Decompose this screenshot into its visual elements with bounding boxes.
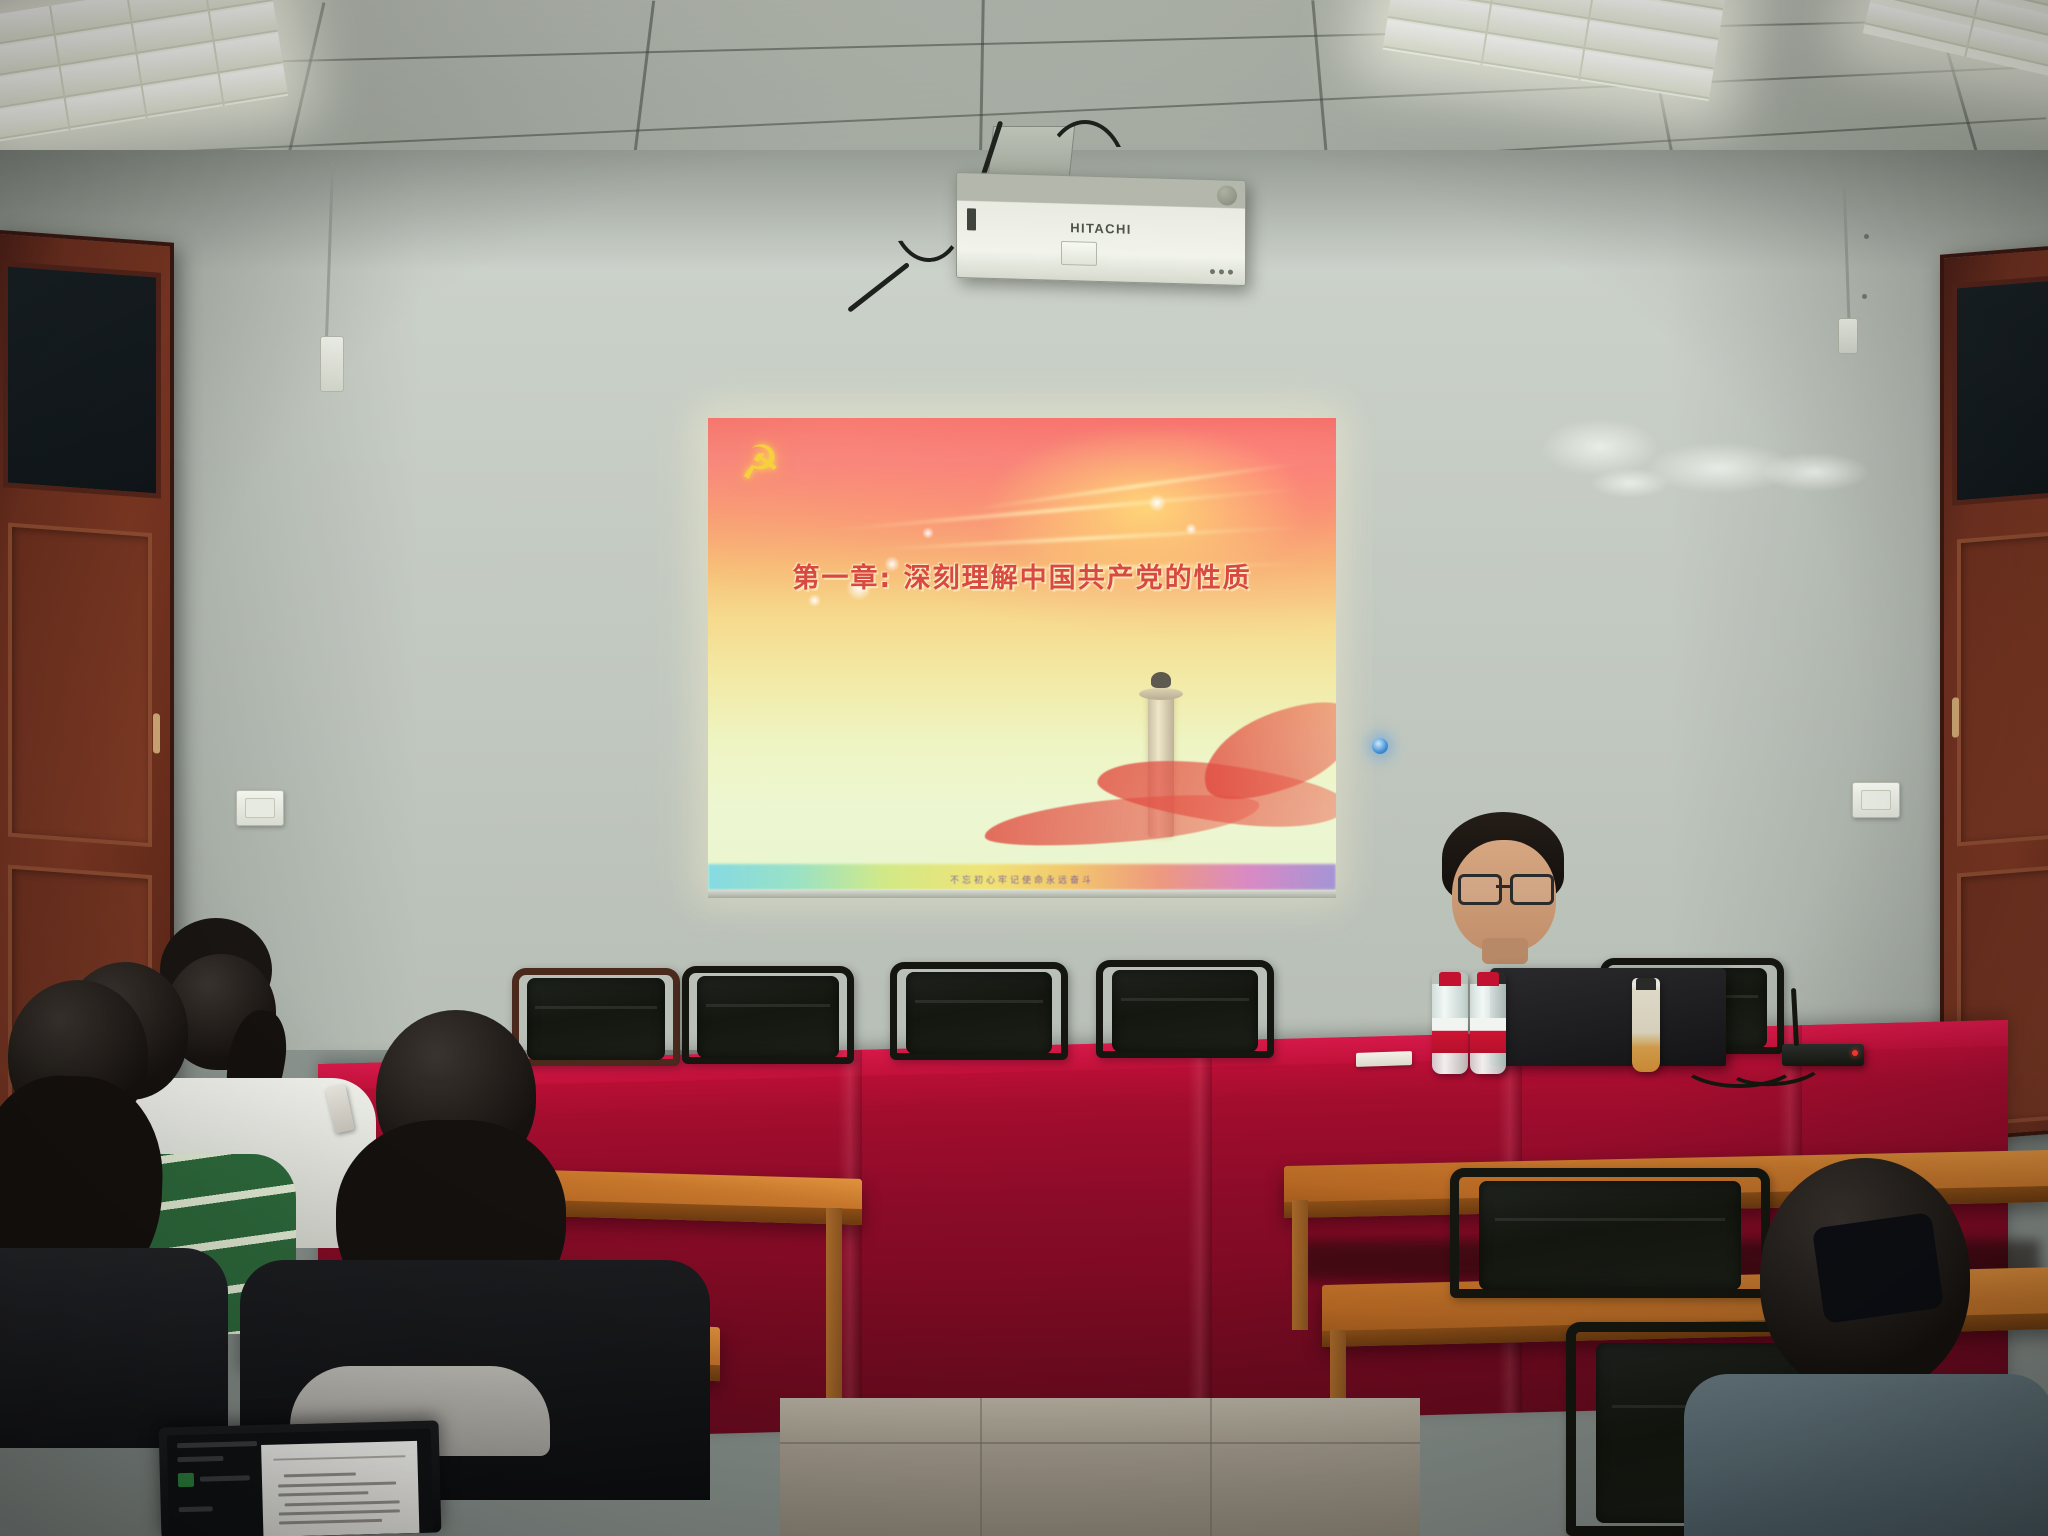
huabiao-finial xyxy=(1151,672,1171,688)
drape-fold-3 xyxy=(1188,1041,1212,1422)
light-switch-left[interactable] xyxy=(236,790,284,826)
chair-front-3[interactable] xyxy=(890,962,1068,1060)
slide-background: ☭ 第一章: 深刻理解中国共产党的性质 不忘初心牢记使命永远奋斗 xyxy=(708,418,1336,894)
torso xyxy=(0,1248,228,1448)
document-text-line xyxy=(284,1473,356,1478)
projector-brand-label: HITACHI xyxy=(957,217,1245,240)
projector-indicator-lights xyxy=(1210,269,1233,275)
lecture-hall-photo: HITACHI ☭ 第一章: 深刻理解中国共产党的性质 xyxy=(0,0,2048,1536)
cpc-emblem-icon: ☭ xyxy=(738,438,782,487)
slide-sparkle-f xyxy=(1185,523,1197,535)
light-switch-right[interactable] xyxy=(1852,782,1900,818)
hair-bow-clip xyxy=(1812,1212,1944,1324)
chair-back-panel xyxy=(697,976,838,1058)
document-rule xyxy=(274,1455,405,1460)
floor xyxy=(780,1398,1420,1536)
desk-leg-center-back xyxy=(826,1208,842,1428)
screen-bottom-edge xyxy=(708,890,1336,898)
document-text-line xyxy=(279,1519,382,1525)
wall-smudge-c xyxy=(1760,452,1870,492)
door-handle-right[interactable] xyxy=(1952,697,1959,738)
laptop-toolbar xyxy=(177,1441,257,1448)
laptop-sidebar-item xyxy=(200,1475,250,1481)
document-app-icon xyxy=(178,1473,194,1487)
attendee-right-teal xyxy=(1678,1158,2048,1536)
tea-bottle-cap xyxy=(1636,978,1655,990)
floor-tile-vline xyxy=(980,1398,982,1536)
wall-smudge-d xyxy=(1590,468,1670,498)
router-status-led xyxy=(1852,1050,1858,1056)
document-text-line xyxy=(278,1491,369,1496)
attendee-front-left xyxy=(0,980,218,1340)
wall-sensor-left xyxy=(320,336,344,392)
water-bottle-right[interactable] xyxy=(1470,972,1506,1074)
chair-back-panel xyxy=(1112,970,1258,1052)
door-panel-left-upper xyxy=(8,523,152,848)
slide-title: 第一章: 深刻理解中国共产党的性质 xyxy=(708,556,1336,595)
chair-back-panel xyxy=(906,972,1052,1054)
door-transom-left xyxy=(3,261,161,499)
desk-leg-right-back xyxy=(1292,1200,1308,1330)
status-led-indicator xyxy=(1372,738,1388,754)
door-panel-right-upper xyxy=(1957,528,2048,846)
door-transom-right xyxy=(1952,273,2048,506)
slide-sparkle-d xyxy=(922,527,934,539)
foreground-laptop[interactable] xyxy=(159,1420,442,1536)
glasses-icon xyxy=(1458,874,1554,900)
wall-smudge-a xyxy=(1540,418,1660,476)
document-text-line xyxy=(278,1481,397,1487)
bottle-label xyxy=(1470,1018,1506,1053)
projector-lens xyxy=(1061,241,1097,266)
floor-tile-vline xyxy=(1210,1398,1212,1536)
bottle-label xyxy=(1432,1018,1468,1053)
paper-note[interactable] xyxy=(1356,1051,1412,1067)
ceiling-projector: HITACHI xyxy=(956,172,1246,286)
door-handle-left[interactable] xyxy=(153,713,160,754)
chair-front-2[interactable] xyxy=(682,966,854,1064)
bottle-cap xyxy=(1477,972,1499,986)
water-bottle-left[interactable] xyxy=(1432,972,1468,1074)
wall-sensor-right xyxy=(1838,318,1858,354)
laptop-document-page xyxy=(261,1441,419,1536)
projector-knob xyxy=(1217,185,1237,206)
document-text-line xyxy=(284,1500,399,1506)
laptop-toolbar-2 xyxy=(177,1456,223,1462)
huabiao-cap xyxy=(1139,688,1183,700)
wall-nail-a xyxy=(1864,234,1869,239)
laptop-screen xyxy=(167,1429,434,1536)
projection-screen: ☭ 第一章: 深刻理解中国共产党的性质 不忘初心牢记使命永远奋斗 xyxy=(708,418,1336,894)
slide-sparkle-c xyxy=(808,594,821,607)
torso xyxy=(1684,1374,2048,1536)
chair-front-4[interactable] xyxy=(1096,960,1274,1058)
slide-footer-text: 不忘初心牢记使命永远奋斗 xyxy=(708,873,1336,886)
wall-nail-b xyxy=(1862,294,1867,299)
door-right[interactable] xyxy=(1940,241,2048,1143)
document-text-line xyxy=(278,1509,400,1515)
presenter-arm-left xyxy=(1326,992,1430,1084)
slide-sparkle-e xyxy=(1148,494,1166,512)
attendee-black-hoodie xyxy=(300,1010,660,1410)
tea-bottle[interactable] xyxy=(1632,978,1660,1072)
floor-tile-line xyxy=(780,1442,1420,1444)
laptop-sidebar-item-2 xyxy=(179,1506,213,1512)
bottle-cap xyxy=(1439,972,1461,986)
